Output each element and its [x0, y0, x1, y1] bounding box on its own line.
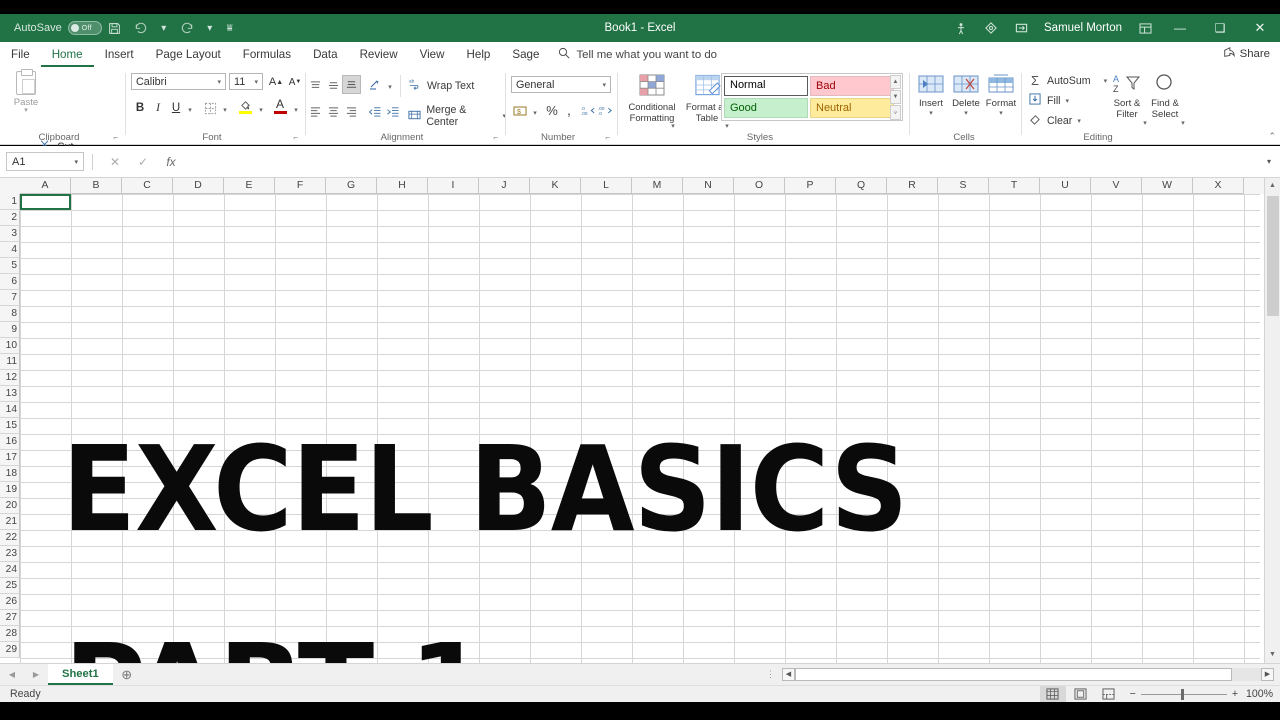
status-text: Ready — [0, 688, 41, 700]
insert-cells-button[interactable]: Insert ▾ — [914, 73, 948, 117]
accounting-format-icon[interactable]: $ — [511, 102, 529, 120]
styles-scroll-down-button[interactable]: ▼ — [890, 90, 901, 104]
ribbon-group-font: Calibri ▾ 11 ▾ A▲ A▼ B I U ▾ ▾ ▾ A — [126, 67, 306, 145]
formula-bar-separator — [92, 154, 93, 170]
wrap-text-label: Wrap Text — [427, 80, 474, 92]
delete-cells-button[interactable]: Delete ▾ — [949, 73, 983, 117]
merge-center-button[interactable]: Merge & Center ▾ — [408, 104, 506, 128]
page-break-preview-button[interactable] — [1096, 686, 1122, 702]
alignment-dialog-launcher[interactable]: ⌐ — [493, 133, 498, 142]
column-header-O[interactable]: O — [734, 178, 785, 194]
formula-bar-row: A1 ▾ ✕ ✓ fx ▾ — [0, 146, 1280, 178]
ribbon-group-alignment: ▾ ab Wrap Text — [306, 67, 506, 145]
row-header-25[interactable]: 25 — [0, 578, 20, 594]
clear-button[interactable]: Clear ▾ — [1028, 113, 1081, 128]
page-layout-view-button[interactable] — [1068, 686, 1094, 702]
delete-cells-label: Delete — [952, 98, 980, 109]
increase-indent-button[interactable] — [384, 102, 402, 120]
spreadsheet-grid: ABCDEFGHIJKLMNOPQRSTUVWX 123456789101112… — [0, 178, 1280, 663]
row-header-15[interactable]: 15 — [0, 418, 20, 434]
column-header-B[interactable]: B — [71, 178, 122, 194]
orientation-icon[interactable] — [366, 76, 384, 94]
row-header-3[interactable]: 3 — [0, 226, 20, 242]
column-header-U[interactable]: U — [1040, 178, 1091, 194]
sort-filter-icon: AZ — [1113, 73, 1141, 98]
comma-style-button[interactable]: , — [562, 101, 576, 119]
insert-cells-icon — [918, 73, 944, 98]
confirm-icon[interactable]: ✓ — [129, 155, 157, 169]
eraser-icon — [1028, 113, 1042, 128]
chevron-down-icon: ▾ — [74, 158, 78, 166]
settings-diamond-icon[interactable] — [976, 14, 1006, 42]
group-label-number: Number — [506, 132, 610, 143]
autosave-switch[interactable]: Off — [68, 21, 102, 35]
tab-insert[interactable]: Insert — [94, 42, 145, 67]
underline-dropdown-icon[interactable]: ▾ — [185, 101, 195, 119]
row-header-28[interactable]: 28 — [0, 626, 20, 642]
fill-button[interactable]: Fill ▾ — [1028, 93, 1069, 108]
column-header-A[interactable]: A — [20, 178, 71, 194]
scroll-right-icon[interactable]: ▶ — [1261, 668, 1274, 681]
number-format-combo[interactable]: General ▾ — [511, 76, 611, 93]
column-header-T[interactable]: T — [989, 178, 1040, 194]
row-header-12[interactable]: 12 — [0, 370, 20, 386]
next-sheet-icon[interactable]: ▶ — [24, 670, 48, 679]
font-size-value: 11 — [234, 76, 245, 88]
scroll-left-icon[interactable]: ◀ — [782, 668, 795, 681]
column-header-P[interactable]: P — [785, 178, 836, 194]
group-label-font: Font — [126, 132, 298, 143]
align-left-button[interactable] — [306, 102, 324, 120]
row-header-21[interactable]: 21 — [0, 514, 20, 530]
row-header-9[interactable]: 9 — [0, 322, 20, 338]
format-dropdown-icon[interactable]: ▾ — [999, 109, 1003, 117]
column-header-H[interactable]: H — [377, 178, 428, 194]
autosave-knob — [71, 24, 79, 32]
zoom-level-label[interactable]: 100% — [1246, 688, 1280, 700]
title-bar: AutoSave Off ▾ ▾ ⩸ Book1 - Excel — [0, 14, 1280, 42]
share-button[interactable]: Share — [1223, 46, 1270, 61]
autosave-state: Off — [82, 25, 92, 32]
horizontal-scrollbar[interactable]: ◀ ▶ — [782, 668, 1274, 682]
clipboard-dialog-launcher[interactable]: ⌐ — [113, 133, 118, 142]
redo-icon[interactable] — [174, 16, 200, 40]
horizontal-scroll-thumb[interactable] — [795, 668, 1232, 681]
collapse-ribbon-button[interactable]: ⌃ — [1268, 131, 1276, 142]
customize-quick-access-icon[interactable]: ⩸ — [220, 16, 240, 40]
orientation-dropdown-icon[interactable]: ▾ — [385, 78, 395, 96]
column-header-V[interactable]: V — [1091, 178, 1142, 194]
column-header-S[interactable]: S — [938, 178, 989, 194]
letterbox-bottom — [0, 702, 1280, 720]
row-header-27[interactable]: 27 — [0, 610, 20, 626]
tab-home[interactable]: Home — [41, 42, 94, 67]
number-format-value: General — [516, 79, 554, 91]
name-box-value: A1 — [12, 156, 25, 168]
italic-button[interactable]: I — [150, 99, 166, 117]
row-header-23[interactable]: 23 — [0, 546, 20, 562]
name-box[interactable]: A1 ▾ — [6, 152, 84, 171]
styles-scroll-up-button[interactable]: ▲ — [890, 75, 901, 89]
ribbon-group-styles: Conditional Formatting ▾ Format as Table… — [618, 67, 910, 145]
paste-button[interactable]: Paste ▾ — [6, 71, 46, 129]
group-label-clipboard: Clipboard — [0, 132, 118, 143]
status-bar: Ready − + 100% — [0, 685, 1280, 702]
underline-button[interactable]: U — [168, 99, 184, 117]
share-label: Share — [1240, 48, 1270, 60]
insert-function-icon[interactable]: fx — [157, 155, 185, 169]
find-select-label-line2: Select — [1152, 109, 1179, 120]
chevron-down-icon: ▾ — [602, 81, 606, 89]
row-header-14[interactable]: 14 — [0, 402, 20, 418]
previous-sheet-icon[interactable]: ◀ — [0, 670, 24, 679]
svg-text:.0: .0 — [598, 111, 602, 116]
row-header-29[interactable]: 29 — [0, 642, 20, 658]
active-cell-selection[interactable] — [20, 194, 71, 210]
tab-sage[interactable]: Sage — [501, 42, 550, 67]
svg-text:Z: Z — [1113, 84, 1119, 94]
conditional-formatting-label-line1: Conditional — [629, 101, 676, 112]
row-header-11[interactable]: 11 — [0, 354, 20, 370]
add-sheet-icon[interactable]: ⊕ — [113, 667, 141, 683]
merge-center-icon — [408, 109, 421, 124]
tab-review[interactable]: Review — [349, 42, 409, 67]
conditional-formatting-icon — [638, 73, 666, 101]
wrap-text-icon: ab — [408, 78, 422, 93]
find-select-button[interactable]: Find & Select — [1144, 73, 1186, 120]
fill-color-icon[interactable] — [236, 97, 254, 115]
ribbon-display-options-icon[interactable] — [1006, 14, 1036, 42]
row-header-10[interactable]: 10 — [0, 338, 20, 354]
insert-cells-label: Insert — [919, 98, 943, 109]
view-buttons — [1040, 686, 1122, 702]
tell-me-search[interactable]: Tell me what you want to do — [558, 47, 717, 62]
tab-view[interactable]: View — [409, 42, 456, 67]
column-header-G[interactable]: G — [326, 178, 377, 194]
align-middle-button[interactable] — [324, 76, 342, 94]
autosum-label: AutoSum — [1047, 75, 1091, 87]
clear-dropdown-icon[interactable]: ▾ — [1077, 117, 1081, 125]
zoom-out-button[interactable]: − — [1130, 688, 1136, 700]
column-header-J[interactable]: J — [479, 178, 530, 194]
quick-access-toolbar: AutoSave Off ▾ ▾ ⩸ — [0, 16, 240, 40]
column-header-R[interactable]: R — [887, 178, 938, 194]
vertical-scroll-thumb[interactable] — [1267, 196, 1279, 316]
find-select-dropdown-icon[interactable]: ▾ — [1178, 114, 1188, 132]
font-family-value: Calibri — [136, 76, 167, 88]
formula-input[interactable] — [185, 152, 1258, 171]
accessibility-icon[interactable] — [946, 14, 976, 42]
row-header-18[interactable]: 18 — [0, 466, 20, 482]
row-header-8[interactable]: 8 — [0, 306, 20, 322]
ribbon-group-clipboard: Paste ▾ Cut Copy ▾ Format Paint — [0, 67, 126, 145]
delete-dropdown-icon[interactable]: ▾ — [964, 109, 968, 117]
autosum-button[interactable]: Σ AutoSum ▾ — [1028, 73, 1107, 88]
grow-font-button[interactable]: A▲ — [268, 73, 284, 91]
excel-window: AutoSave Off ▾ ▾ ⩸ Book1 - Excel — [0, 0, 1280, 720]
tab-data[interactable]: Data — [302, 42, 349, 67]
column-header-C[interactable]: C — [122, 178, 173, 194]
ribbon-group-number: General ▾ $ ▾ % , .0.00 .00.0 Number ⌐ — [506, 67, 618, 145]
format-cells-icon — [988, 73, 1014, 98]
fill-down-icon — [1028, 93, 1042, 108]
alignment-inner-separator — [400, 75, 401, 97]
vertical-scrollbar[interactable]: ▲ ▼ — [1264, 178, 1280, 663]
cell-area[interactable] — [20, 194, 1260, 663]
close-button[interactable]: ✕ — [1240, 14, 1280, 42]
font-color-dropdown-icon[interactable]: ▾ — [291, 101, 301, 119]
row-header-19[interactable]: 19 — [0, 482, 20, 498]
column-header-K[interactable]: K — [530, 178, 581, 194]
title-bar-right: Samuel Morton — ❑ ✕ — [946, 14, 1280, 42]
expand-formula-bar-icon[interactable]: ▾ — [1258, 157, 1280, 166]
chevron-down-icon: ▾ — [217, 78, 221, 86]
format-as-table-label-line2: Table — [696, 112, 718, 123]
number-dialog-launcher[interactable]: ⌐ — [605, 133, 610, 142]
decrease-indent-button[interactable] — [366, 102, 384, 120]
redo-dropdown-icon[interactable]: ▾ — [200, 16, 220, 40]
svg-text:ab: ab — [409, 79, 415, 84]
paste-dropdown-icon[interactable]: ▾ — [24, 108, 28, 114]
merge-center-label: Merge & Center — [426, 104, 497, 128]
borders-dropdown-icon[interactable]: ▾ — [220, 101, 230, 119]
align-right-button[interactable] — [342, 102, 360, 120]
undo-icon[interactable] — [128, 16, 154, 40]
row-header-13[interactable]: 13 — [0, 386, 20, 402]
borders-icon[interactable] — [202, 99, 218, 117]
wrap-text-button[interactable]: ab Wrap Text — [408, 78, 474, 93]
column-header-W[interactable]: W — [1142, 178, 1193, 194]
row-header-4[interactable]: 4 — [0, 242, 20, 258]
row-header-17[interactable]: 17 — [0, 450, 20, 466]
increase-decimal-icon[interactable]: .0.00 — [580, 102, 596, 120]
ribbon-tab-bar: File Home Insert Page Layout Formulas Da… — [0, 42, 1280, 67]
ribbon: Paste ▾ Cut Copy ▾ Format Paint — [0, 67, 1280, 145]
sort-filter-label-line2: Filter — [1116, 109, 1137, 120]
column-header-Q[interactable]: Q — [836, 178, 887, 194]
zoom-slider-thumb[interactable] — [1181, 689, 1184, 700]
row-header-5[interactable]: 5 — [0, 258, 20, 274]
zoom-in-button[interactable]: + — [1232, 688, 1238, 700]
letterbox-top — [0, 0, 1280, 14]
tab-split-handle[interactable]: ⋮ — [766, 669, 782, 680]
align-center-button[interactable] — [324, 102, 342, 120]
group-label-cells: Cells — [910, 132, 1018, 143]
align-bottom-button[interactable] — [342, 75, 361, 94]
conditional-formatting-button[interactable]: Conditional Formatting — [624, 73, 680, 123]
row-header-7[interactable]: 7 — [0, 290, 20, 306]
search-icon — [558, 47, 570, 62]
cell-style-bad[interactable]: Bad — [810, 76, 894, 96]
sheet-tab-sheet1[interactable]: Sheet1 — [48, 664, 113, 685]
column-header-E[interactable]: E — [224, 178, 275, 194]
column-headers: ABCDEFGHIJKLMNOPQRSTUVWX — [0, 178, 1280, 194]
tab-help[interactable]: Help — [456, 42, 502, 67]
maximize-restore-button[interactable]: ❑ — [1200, 14, 1240, 42]
zoom-control: − + — [1122, 688, 1246, 700]
row-header-26[interactable]: 26 — [0, 594, 20, 610]
row-header-16[interactable]: 16 — [0, 434, 20, 450]
cell-style-normal[interactable]: Normal — [724, 76, 808, 96]
share-icon — [1223, 46, 1235, 61]
shrink-font-button[interactable]: A▼ — [287, 73, 303, 91]
align-top-button[interactable] — [306, 76, 324, 94]
column-header-M[interactable]: M — [632, 178, 683, 194]
format-as-table-icon — [694, 73, 721, 101]
cell-style-good[interactable]: Good — [724, 98, 808, 118]
group-label-styles: Styles — [618, 132, 902, 143]
column-header-F[interactable]: F — [275, 178, 326, 194]
sort-filter-button[interactable]: AZ Sort & Filter — [1106, 73, 1148, 120]
find-select-icon — [1153, 73, 1177, 98]
find-select-label-line1: Find & — [1151, 98, 1179, 109]
format-cells-button[interactable]: Format ▾ — [984, 73, 1018, 117]
row-header-6[interactable]: 6 — [0, 274, 20, 290]
tell-me-placeholder: Tell me what you want to do — [576, 49, 717, 61]
row-header-20[interactable]: 20 — [0, 498, 20, 514]
svg-text:A: A — [1113, 74, 1119, 84]
bold-button[interactable]: B — [132, 99, 148, 117]
column-header-L[interactable]: L — [581, 178, 632, 194]
sort-filter-label-line1: Sort & — [1114, 98, 1141, 109]
delete-cells-icon — [953, 73, 979, 98]
sheet-tab-bar: ◀ ▶ Sheet1 ⊕ ⋮ ◀ ▶ — [0, 663, 1280, 685]
normal-view-button[interactable] — [1040, 686, 1066, 702]
column-header-I[interactable]: I — [428, 178, 479, 194]
paste-icon — [16, 71, 36, 95]
column-header-X[interactable]: X — [1193, 178, 1244, 194]
undo-dropdown-icon[interactable]: ▾ — [154, 16, 174, 40]
row-header-2[interactable]: 2 — [0, 210, 20, 226]
sum-icon: Σ — [1028, 73, 1042, 88]
tab-page-layout[interactable]: Page Layout — [145, 42, 232, 67]
font-color-icon[interactable]: A — [271, 97, 289, 115]
percent-style-button[interactable]: % — [544, 101, 560, 119]
zoom-slider[interactable] — [1141, 694, 1227, 695]
column-header-N[interactable]: N — [683, 178, 734, 194]
window-layout-icon[interactable] — [1130, 14, 1160, 42]
chevron-down-icon: ▾ — [254, 78, 258, 86]
font-size-combo[interactable]: 11 ▾ — [229, 73, 263, 90]
cell-style-neutral[interactable]: Neutral — [810, 98, 894, 118]
tab-formulas[interactable]: Formulas — [232, 42, 302, 67]
user-account-name[interactable]: Samuel Morton — [1036, 22, 1130, 34]
fill-color-dropdown-icon[interactable]: ▾ — [256, 101, 266, 119]
row-header-22[interactable]: 22 — [0, 530, 20, 546]
minimize-button[interactable]: — — [1160, 14, 1200, 42]
insert-dropdown-icon[interactable]: ▾ — [929, 109, 933, 117]
fill-dropdown-icon[interactable]: ▾ — [1066, 97, 1070, 105]
svg-text:$: $ — [517, 109, 521, 116]
group-label-editing: Editing — [1022, 132, 1174, 143]
styles-more-button[interactable]: ⩒ — [890, 105, 901, 120]
row-header-1[interactable]: 1 — [0, 194, 20, 210]
tab-file[interactable]: File — [0, 42, 41, 67]
group-label-alignment: Alignment — [306, 132, 498, 143]
font-family-combo[interactable]: Calibri ▾ — [131, 73, 226, 90]
font-dialog-launcher[interactable]: ⌐ — [293, 133, 298, 142]
scroll-up-icon[interactable]: ▲ — [1265, 178, 1280, 194]
scroll-down-icon[interactable]: ▼ — [1265, 647, 1280, 663]
row-header-24[interactable]: 24 — [0, 562, 20, 578]
column-header-D[interactable]: D — [173, 178, 224, 194]
cell-styles-gallery: Normal Bad Good Neutral ▲ ▼ ⩒ — [721, 73, 903, 121]
autosave-toggle[interactable]: AutoSave Off — [14, 21, 102, 35]
ribbon-group-editing: Σ AutoSum ▾ Fill ▾ Clear ▾ AZ — [1022, 67, 1182, 145]
horizontal-scroll-track[interactable] — [795, 668, 1261, 681]
fill-label: Fill — [1047, 95, 1061, 107]
cancel-icon[interactable]: ✕ — [101, 155, 129, 169]
svg-text:.00: .00 — [581, 111, 588, 116]
save-icon[interactable] — [102, 16, 128, 40]
clear-label: Clear — [1047, 115, 1072, 127]
ribbon-group-cells: Insert ▾ Delete ▾ Format ▾ Cells — [910, 67, 1022, 145]
decrease-decimal-icon[interactable]: .00.0 — [597, 102, 613, 120]
format-cells-label: Format — [986, 98, 1016, 109]
autosave-label: AutoSave — [14, 22, 62, 34]
accounting-dropdown-icon[interactable]: ▾ — [530, 104, 540, 122]
